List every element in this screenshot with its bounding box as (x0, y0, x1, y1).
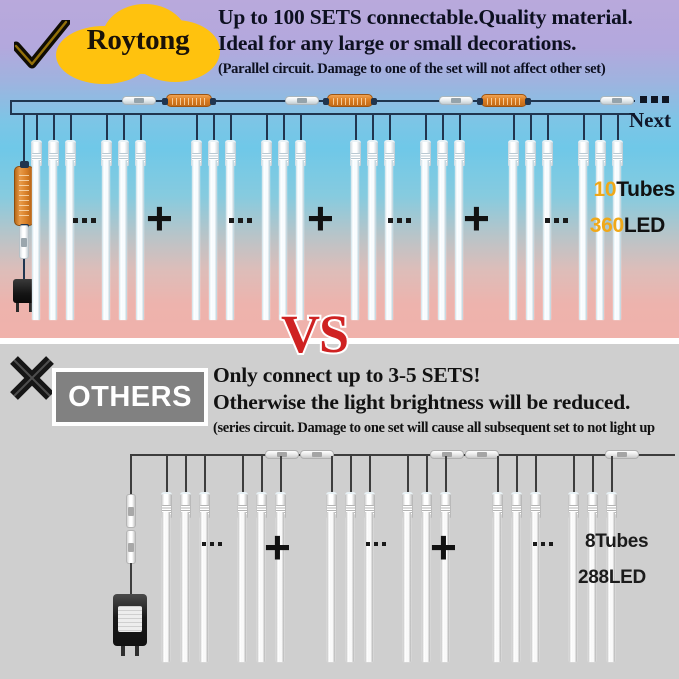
led-meteor-tube (365, 512, 373, 662)
led-meteor-tube (421, 160, 429, 320)
led-meteor-tube (543, 160, 551, 320)
led-meteor-tube (102, 160, 110, 320)
bottom-bus-connector-2 (300, 450, 334, 459)
power-transformer (14, 166, 34, 226)
tube-drop-wire (242, 456, 244, 492)
tube-drop-wire (592, 456, 594, 492)
bottom-plus-sign-1: + (264, 524, 291, 570)
tube-drop-wire (196, 114, 198, 140)
tube-drop-wire (230, 114, 232, 140)
led-meteor-tube (438, 160, 446, 320)
led-meteor-tube (327, 512, 335, 662)
next-label: Next (629, 108, 671, 133)
tube-drop-wire (583, 114, 585, 140)
bottom-inline-connector (126, 494, 136, 528)
tube-drop-wire (70, 114, 72, 140)
tube-drop-wire (547, 114, 549, 140)
bus-connector-3 (439, 96, 473, 105)
bus-branch-wire (10, 113, 635, 115)
tube-drop-wire (459, 114, 461, 140)
led-driver-3 (481, 94, 527, 107)
roytong-panel: Roytong Up to 100 SETS connectable.Quali… (0, 0, 679, 338)
tube-drop-wire (355, 114, 357, 140)
bottom-plus-sign-2: + (430, 524, 457, 570)
bottom-ellipsis-1 (202, 542, 222, 546)
inline-connector-vertical (19, 225, 29, 259)
led-meteor-tube (192, 160, 200, 320)
led-meteor-tube (509, 160, 517, 320)
bottom-ellipsis-3 (533, 542, 553, 546)
led-meteor-tube (531, 512, 539, 662)
led-count-label-top: 360LED (590, 214, 665, 238)
tube-drop-wire (300, 114, 302, 140)
led-meteor-tube (422, 512, 430, 662)
bottom-power-adapter (113, 594, 147, 646)
tube-drop-wire (204, 456, 206, 492)
led-meteor-tube (136, 160, 144, 320)
others-headline: Only connect up to 3-5 SETS! Otherwise t… (213, 362, 679, 438)
tube-count-unit: Tubes (616, 178, 675, 201)
tube-drop-wire (166, 456, 168, 492)
bus-connector-4 (600, 96, 634, 105)
tube-drop-wire (53, 114, 55, 140)
tube-drop-wire (530, 114, 532, 140)
tube-drop-wire (442, 114, 444, 140)
bottom-bus-connector-4 (465, 450, 499, 459)
bottom-headline-subtext: (series circuit. Damage to one set will … (213, 418, 679, 438)
tube-drop-wire (283, 114, 285, 140)
led-meteor-tube (119, 160, 127, 320)
led-meteor-tube (238, 512, 246, 662)
plus-sign-1: + (146, 195, 173, 241)
bottom-led-count-unit: LED (609, 567, 646, 588)
tube-drop-wire (425, 114, 427, 140)
led-meteor-tube (162, 512, 170, 662)
bottom-ellipsis-2 (366, 542, 386, 546)
tube-drop-wire (266, 114, 268, 140)
brand-name: Roytong (58, 24, 218, 57)
group-ellipsis-4 (545, 218, 568, 223)
bus-drop-left (10, 100, 12, 114)
tube-drop-wire (331, 456, 333, 492)
tube-drop-wire (261, 456, 263, 492)
led-meteor-tube (569, 512, 577, 662)
tube-drop-wire (369, 456, 371, 492)
feed-wire-upper (23, 113, 25, 167)
others-badge-label: OTHERS (68, 381, 192, 414)
tube-drop-wire (280, 456, 282, 492)
led-meteor-tube (385, 160, 393, 320)
tube-drop-wire (106, 114, 108, 140)
group-ellipsis-2 (229, 218, 252, 223)
tube-drop-wire (389, 114, 391, 140)
bottom-tube-count-unit: Tubes (595, 531, 648, 552)
bottom-feed-wire-lower (130, 563, 132, 597)
tube-count-label-bottom: 8Tubes (585, 529, 648, 553)
led-meteor-tube (579, 160, 587, 320)
led-count-label-bottom: 288LED (578, 565, 646, 589)
led-meteor-tube (346, 512, 354, 662)
bottom-inline-connector-2 (126, 530, 136, 564)
led-meteor-tube (296, 160, 304, 320)
led-meteor-tube (368, 160, 376, 320)
led-meteor-tube (351, 160, 359, 320)
led-driver-1 (166, 94, 212, 107)
bottom-headline-line-2: Otherwise the light brightness will be r… (213, 389, 679, 416)
bottom-tube-count-number: 8 (585, 531, 595, 552)
tube-drop-wire (350, 456, 352, 492)
tube-drop-wire (617, 114, 619, 140)
bus-connector-1 (122, 96, 156, 105)
tube-drop-wire (497, 456, 499, 492)
tube-drop-wire (445, 456, 447, 492)
bottom-led-count-number: 288 (578, 567, 609, 588)
led-meteor-tube (493, 512, 501, 662)
led-meteor-tube (226, 160, 234, 320)
tube-count-label-top: 10Tubes (593, 178, 675, 202)
headline-subtext: (Parallel circuit. Damage to one of the … (218, 59, 679, 79)
tube-drop-wire (123, 114, 125, 140)
plus-sign-3: + (463, 195, 490, 241)
headline-line-1: Up to 100 SETS connectable.Quality mater… (218, 4, 679, 30)
group-ellipsis-3 (388, 218, 411, 223)
led-meteor-tube (209, 160, 217, 320)
tube-drop-wire (213, 114, 215, 140)
tube-drop-wire (600, 114, 602, 140)
tube-drop-wire (611, 456, 613, 492)
tube-drop-wire (140, 114, 142, 140)
led-meteor-tube (455, 160, 463, 320)
led-count-unit: LED (624, 214, 665, 237)
tube-drop-wire (573, 456, 575, 492)
vs-label: VS (281, 303, 348, 365)
led-meteor-tube (200, 512, 208, 662)
led-meteor-tube (32, 160, 40, 320)
tube-drop-wire (407, 456, 409, 492)
tube-drop-wire (185, 456, 187, 492)
roytong-headline: Up to 100 SETS connectable.Quality mater… (218, 4, 679, 79)
others-badge: OTHERS (52, 368, 208, 426)
bottom-bus-connector-3 (430, 450, 464, 459)
tube-drop-wire (516, 456, 518, 492)
bottom-bus-connector-1 (265, 450, 299, 459)
product-comparison-infographic: Roytong Up to 100 SETS connectable.Quali… (0, 0, 679, 679)
led-meteor-tube (66, 160, 74, 320)
led-meteor-tube (181, 512, 189, 662)
led-meteor-tube (512, 512, 520, 662)
tube-drop-wire (535, 456, 537, 492)
x-mark-icon (8, 354, 56, 402)
led-meteor-tube (49, 160, 57, 320)
others-panel: OTHERS Only connect up to 3-5 SETS! Othe… (0, 344, 679, 679)
led-meteor-tube (262, 160, 270, 320)
led-meteor-tube (526, 160, 534, 320)
tube-drop-wire (513, 114, 515, 140)
bus-connector-2 (285, 96, 319, 105)
tube-drop-wire (372, 114, 374, 140)
tube-drop-wire (36, 114, 38, 140)
continuation-dots (640, 96, 669, 103)
bottom-headline-line-1: Only connect up to 3-5 SETS! (213, 362, 679, 389)
led-driver-2 (327, 94, 373, 107)
headline-line-2: Ideal for any large or small decorations… (218, 30, 679, 56)
feed-wire-lower (23, 259, 25, 281)
tube-count-number: 10 (593, 178, 616, 201)
led-meteor-tube (403, 512, 411, 662)
group-ellipsis-1 (73, 218, 96, 223)
tube-drop-wire (426, 456, 428, 492)
led-meteor-tube (279, 160, 287, 320)
led-count-number: 360 (590, 214, 624, 237)
plus-sign-2: + (307, 195, 334, 241)
